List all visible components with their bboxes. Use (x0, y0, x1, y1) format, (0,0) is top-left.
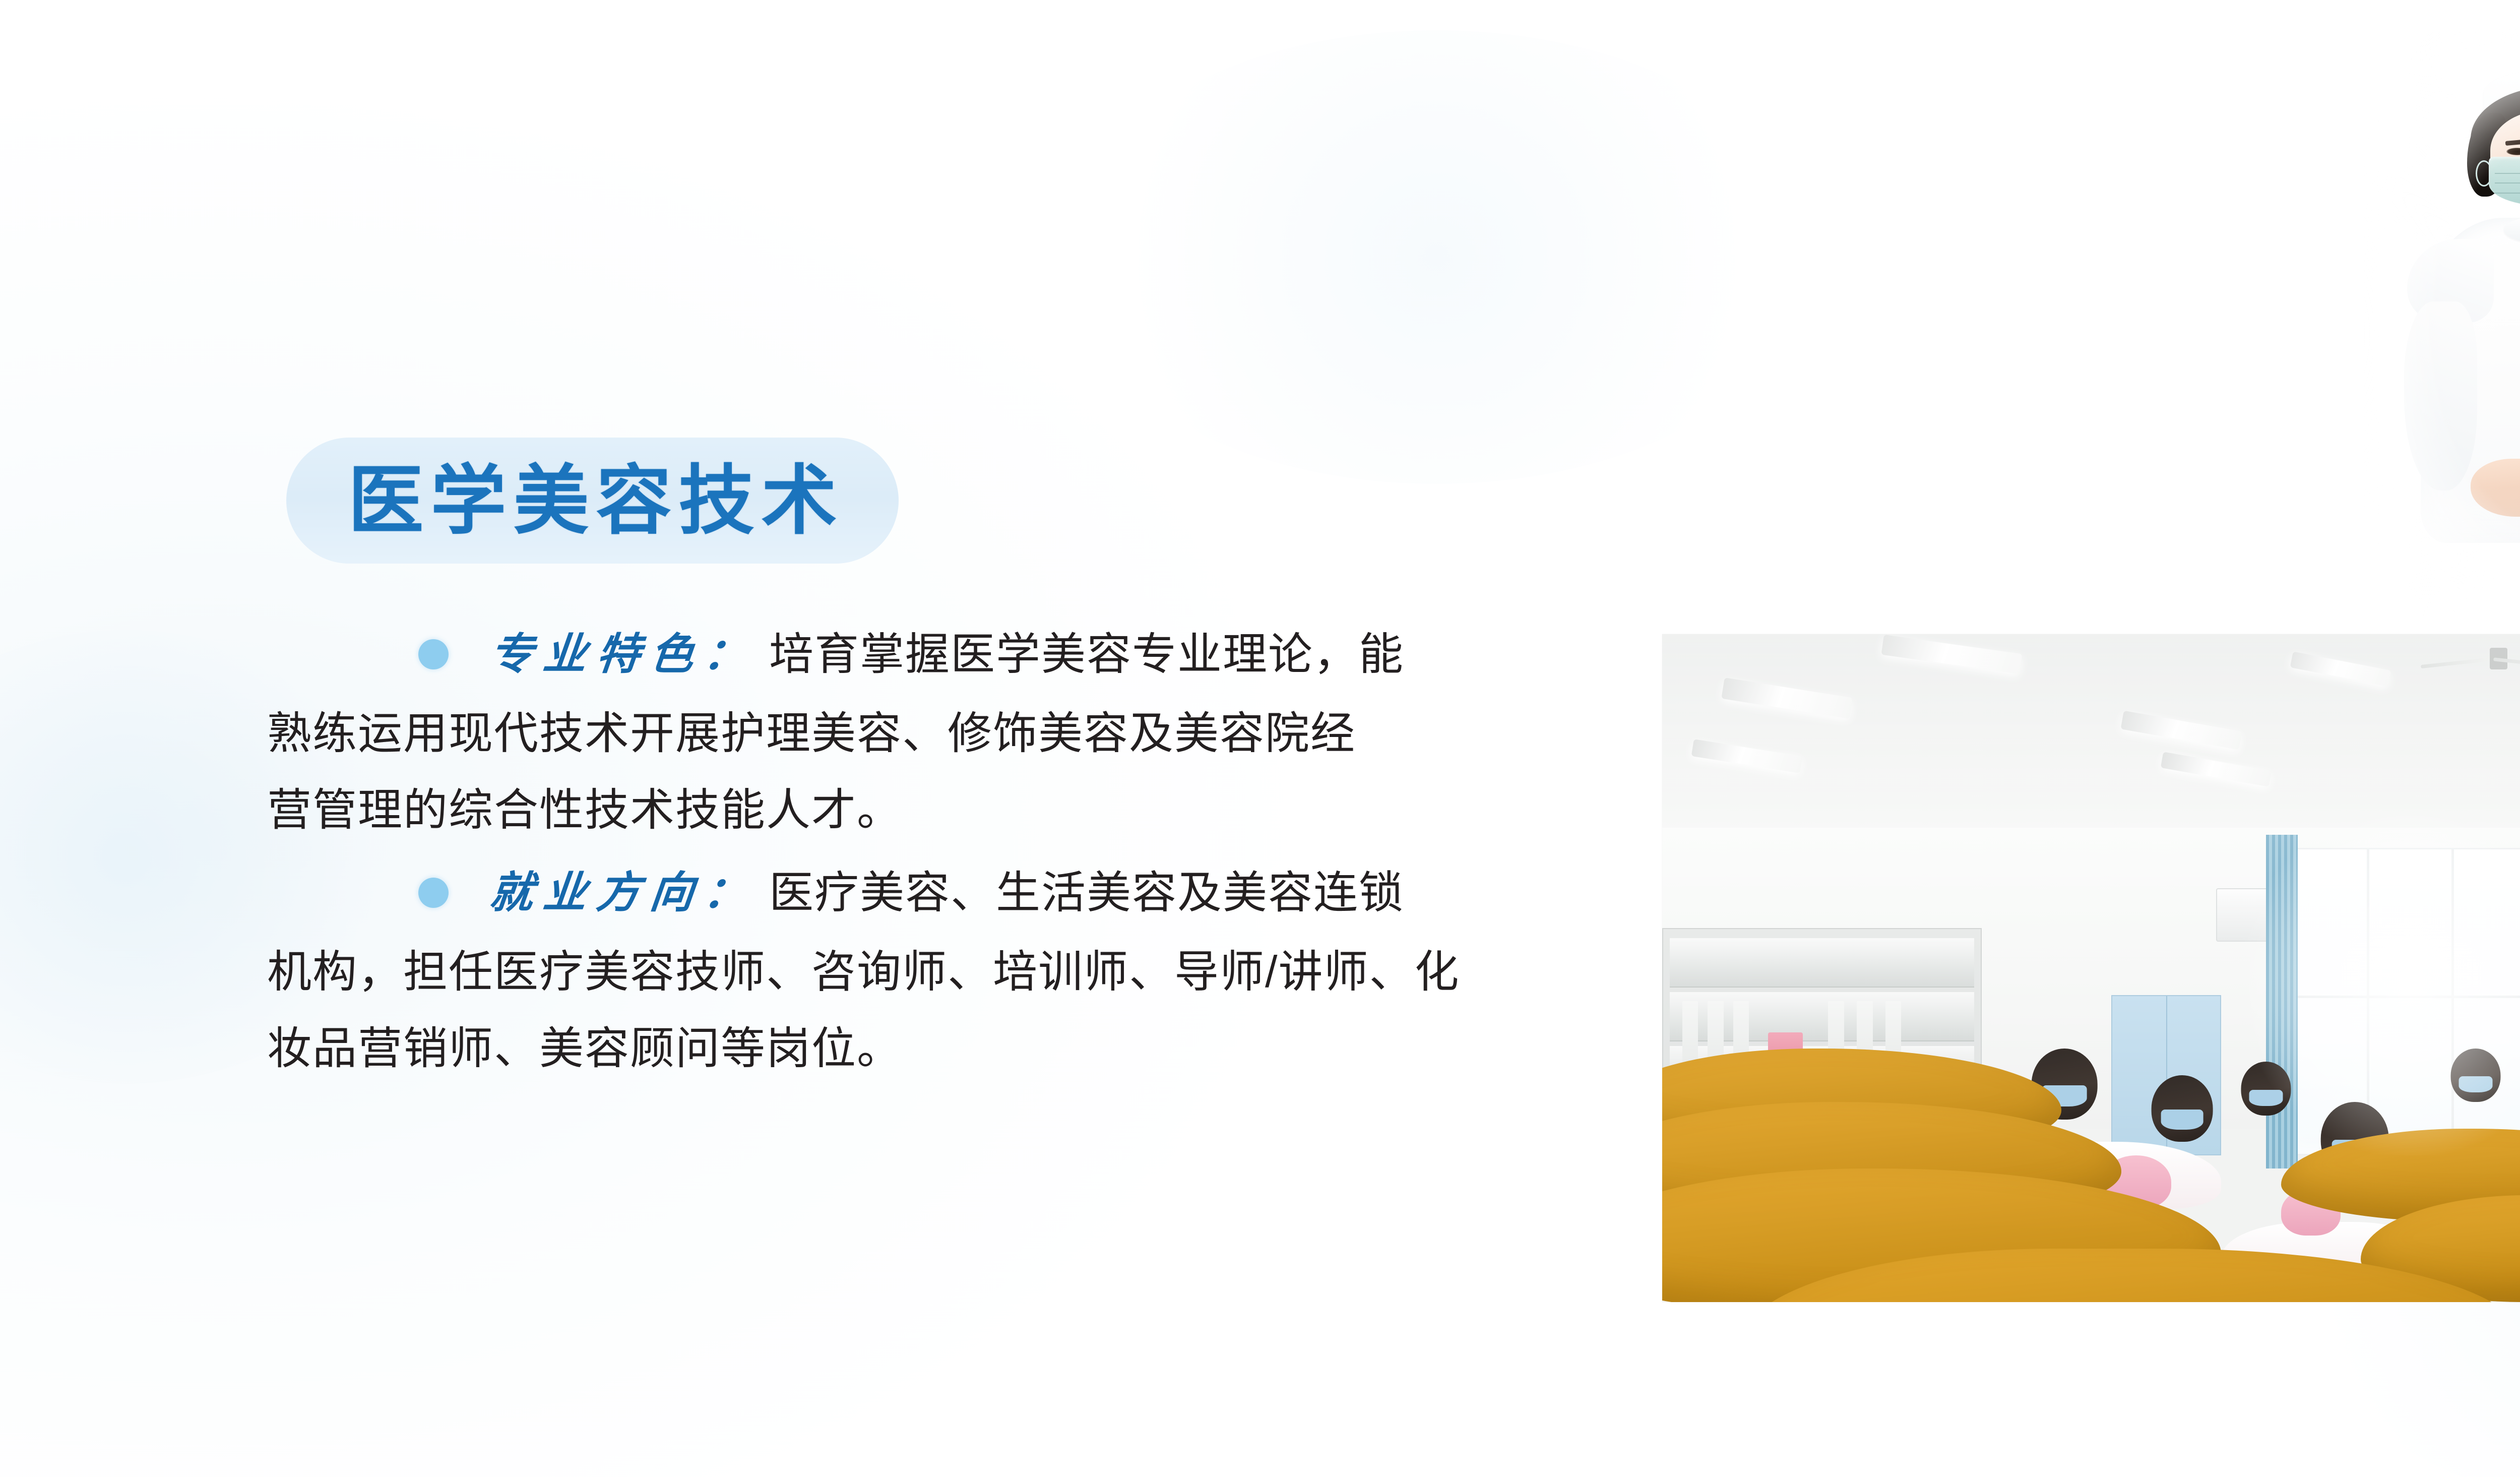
window-mullion (2451, 849, 2454, 1154)
section-line-1: 医疗美容、生活美容及美容连锁 (769, 869, 1404, 917)
mask-pleat (2495, 193, 2520, 194)
section-employment-direction: 就业方向： 医疗美容、生活美容及美容连锁 机构，担任医疗美容技师、咨询师、培训师… (267, 869, 1648, 1071)
nurse-portrait-photo (2384, 60, 2520, 585)
window (2281, 848, 2520, 1155)
section-professional-features: 专业特色： 培育掌握医学美容专业理论，能 熟练运用现代技术开展护理美容、修饰美容… (267, 630, 1648, 832)
face-mask (2459, 1076, 2492, 1092)
student-head (2450, 1049, 2500, 1102)
page-canvas: 医学美容技术 专业特色： 培育掌握医学美容专业理论，能 熟练运用现代技术开展护理… (0, 0, 2520, 1477)
page-title: 医学美容技术 (341, 463, 844, 538)
face-mask (2161, 1110, 2203, 1130)
section-label: 专业特色： (487, 631, 760, 679)
circle-bullet-icon (418, 878, 449, 908)
section-heading-row: 专业特色： 培育掌握医学美容专业理论，能 (418, 630, 1648, 679)
uniform-sleeve-left (2404, 301, 2477, 490)
section-heading-row: 就业方向： 医疗美容、生活美容及美容连锁 (418, 869, 1648, 917)
page-title-badge: 医学美容技术 (286, 438, 899, 564)
ceiling (1662, 634, 2520, 835)
face-mask (2249, 1090, 2283, 1106)
student-head (2151, 1075, 2213, 1142)
shelf-row (1670, 938, 1974, 988)
content-text-column: 专业特色： 培育掌握医学美容专业理论，能 熟练运用现代技术开展护理美容、修饰美容… (267, 630, 1648, 1071)
section-line-2: 熟练运用现代技术开展护理美容、修饰美容及美容院经 (267, 711, 1648, 756)
mask-pleat (2495, 182, 2520, 183)
section-line-2: 机构，担任医疗美容技师、咨询师、培训师、导师/讲师、化 (267, 950, 1648, 994)
section-line-3: 营管理的综合性技术技能人才。 (267, 788, 1648, 832)
section-line-1: 培育掌握医学美容专业理论，能 (769, 630, 1404, 679)
section-label: 就业方向： (487, 869, 760, 917)
section-line-3: 妆品营销师、美容顾问等岗位。 (267, 1026, 1648, 1071)
window-curtain (2266, 835, 2298, 1169)
classroom-scene (1662, 634, 2520, 1302)
ceiling-fan (2440, 648, 2520, 681)
circle-bullet-icon (418, 639, 449, 669)
student-head (2241, 1062, 2291, 1116)
mask-pleat (2495, 173, 2520, 174)
background-wash-top (1058, 30, 1814, 484)
beauty-classroom-photo (1662, 634, 2520, 1302)
window-mullion (2283, 996, 2520, 998)
surgical-mask (2489, 157, 2520, 206)
